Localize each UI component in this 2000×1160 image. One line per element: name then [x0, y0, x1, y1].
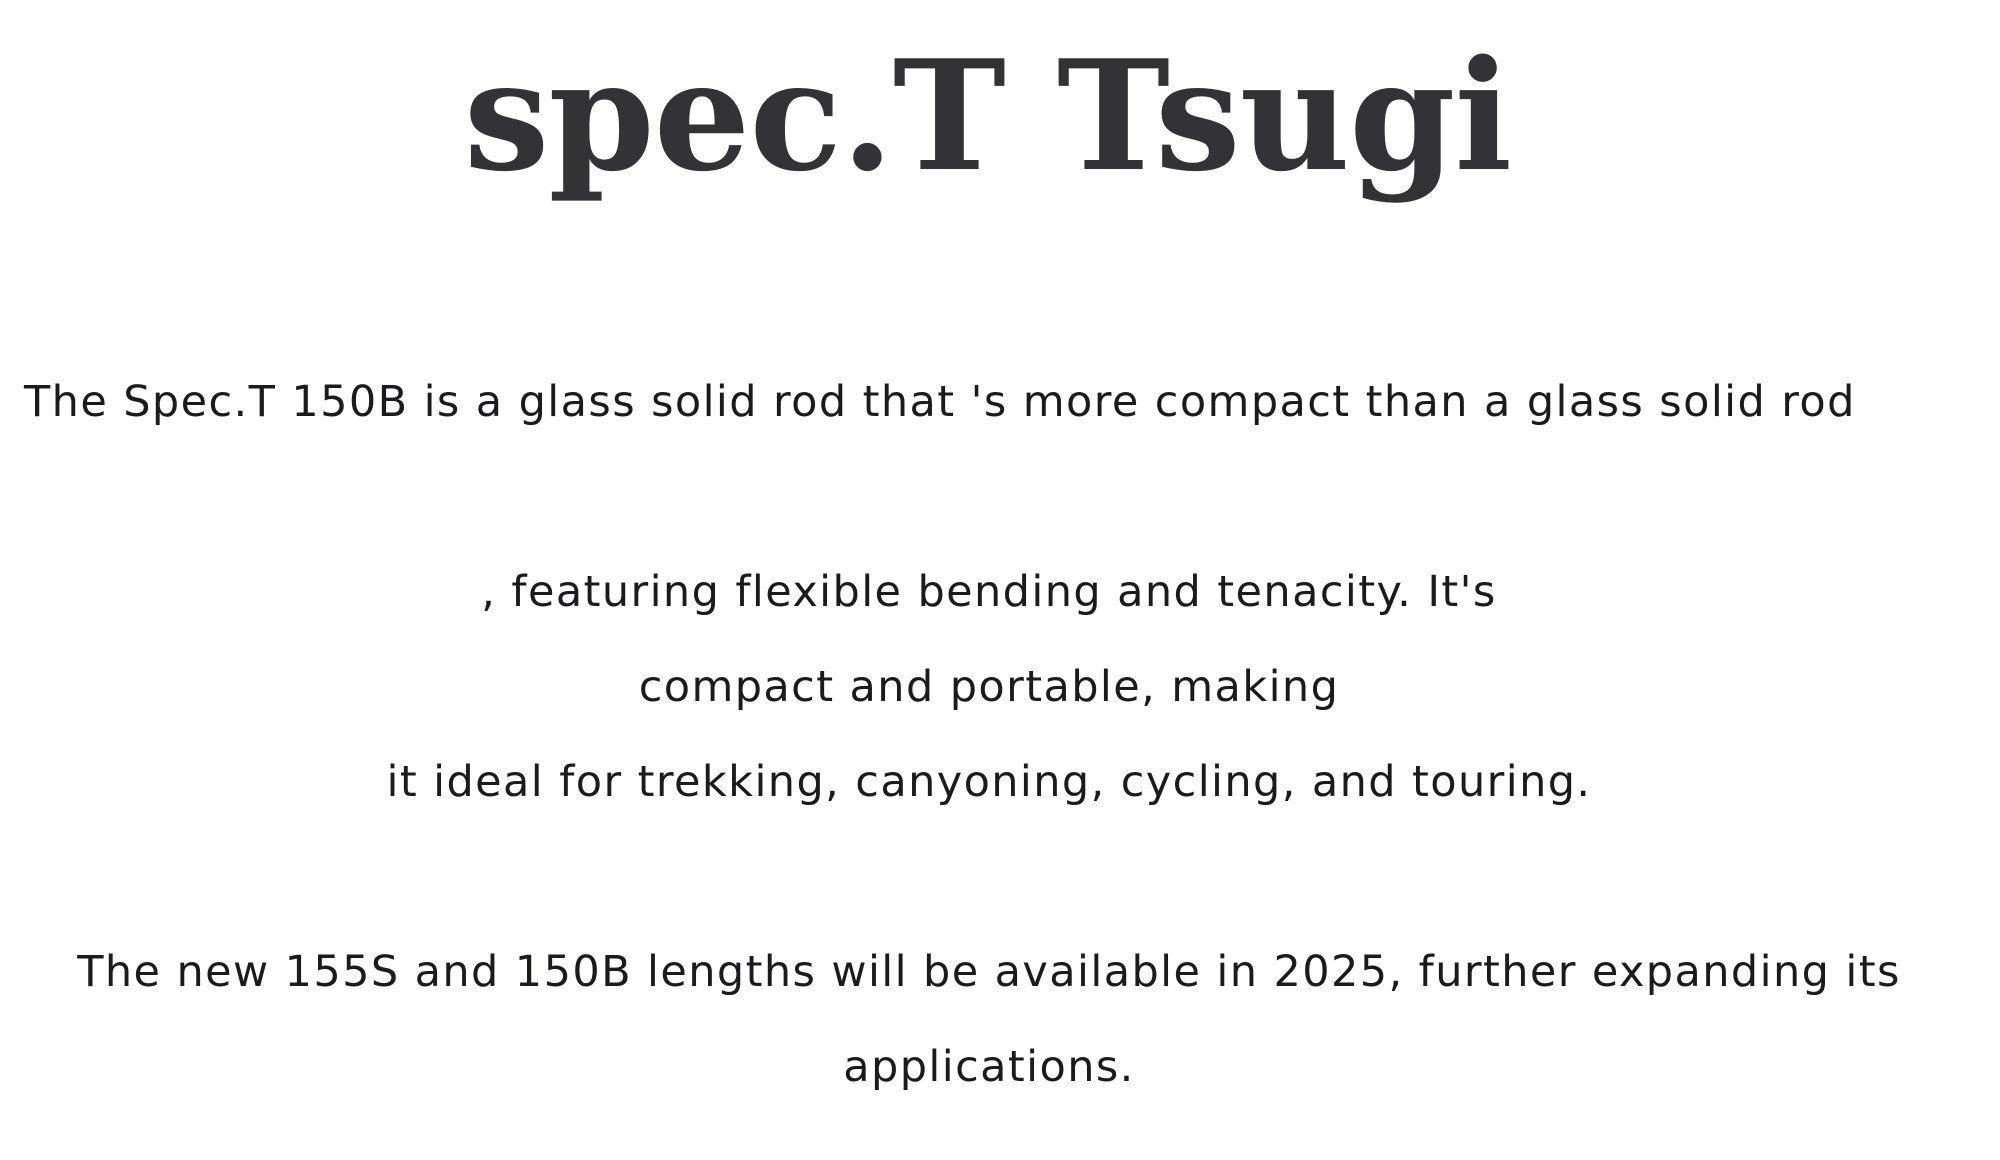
- paragraph-features-line-1: , featuring flexible bending and tenacit…: [0, 545, 1978, 640]
- paragraph-availability: The new 155S and 150B lengths will be av…: [0, 925, 2000, 1115]
- paragraph-features-line-2: compact and portable, making: [0, 640, 1978, 735]
- paragraph-features: , featuring flexible bending and tenacit…: [0, 545, 2000, 830]
- title-block: spec.T Tsugi: [0, 28, 1975, 204]
- paragraph-intro-line-1: The Spec.T 150B is a glass solid rod tha…: [24, 355, 2000, 450]
- paragraph-availability-line-2: applications.: [0, 1020, 1978, 1115]
- paragraph-intro: The Spec.T 150B is a glass solid rod tha…: [0, 355, 2000, 450]
- page-title: spec.T Tsugi: [464, 28, 1511, 204]
- paragraph-features-line-3: it ideal for trekking, canyoning, cyclin…: [0, 735, 1978, 830]
- product-description-page: spec.T Tsugi The Spec.T 150B is a glass …: [0, 0, 2000, 1160]
- paragraph-spacer: [0, 830, 2000, 925]
- body-copy: The Spec.T 150B is a glass solid rod tha…: [0, 355, 2000, 1115]
- paragraph-availability-line-1: The new 155S and 150B lengths will be av…: [0, 925, 1978, 1020]
